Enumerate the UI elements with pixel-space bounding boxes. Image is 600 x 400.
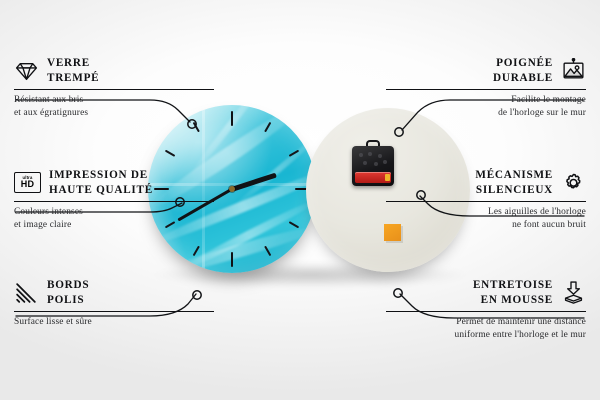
feature-bords-polis[interactable]: BORDS POLIS Surface lisse et sûre: [14, 278, 214, 329]
polished-edges-icon: [14, 280, 39, 305]
ultra-hd-icon: ultra HD: [14, 172, 41, 193]
feature-poignee-durable[interactable]: POIGNÉE DURABLE Facilite le montage de l…: [386, 56, 586, 120]
feature-impression-haute-qualite[interactable]: ultra HD IMPRESSION DE HAUTE QUALITÉ Cou…: [14, 168, 214, 232]
feature-divider: [14, 89, 214, 91]
feature-divider: [14, 311, 214, 313]
wire-endpoint-verre: [188, 120, 196, 128]
feature-verre-trempe[interactable]: VERRE TREMPÉ Résistant aux bris et aux é…: [14, 56, 214, 120]
feature-header: ultra HD IMPRESSION DE HAUTE QUALITÉ: [14, 168, 214, 198]
feature-title-line1: BORDS: [47, 278, 89, 293]
picture-hanger-icon: [561, 58, 586, 83]
feature-description: Surface lisse et sûre: [14, 316, 214, 329]
feature-divider: [14, 201, 214, 203]
feature-title: VERRE TREMPÉ: [47, 56, 99, 86]
feature-description: Couleurs intenses et image claire: [14, 206, 214, 232]
feature-title-line1: POIGNÉE: [493, 56, 553, 71]
feature-description: Les aiguilles de l'horloge ne font aucun…: [386, 206, 586, 232]
feature-title-line1: MÉCANISME: [475, 168, 553, 183]
feature-divider: [386, 311, 586, 313]
feature-title-line1: ENTRETOISE: [473, 278, 553, 293]
feature-title-line2: EN MOUSSE: [473, 293, 553, 308]
feature-title: IMPRESSION DE HAUTE QUALITÉ: [49, 168, 153, 198]
feature-description: Résistant aux bris et aux égratignures: [14, 94, 214, 120]
ultra-hd-icon-main-text: HD: [21, 180, 35, 189]
feature-title-line2: HAUTE QUALITÉ: [49, 183, 153, 198]
feature-title-line1: VERRE: [47, 56, 99, 71]
feature-title: ENTRETOISE EN MOUSSE: [473, 278, 553, 308]
feature-title-line2: TREMPÉ: [47, 71, 99, 86]
feature-header: MÉCANISME SILENCIEUX: [386, 168, 586, 198]
feature-title-line2: POLIS: [47, 293, 89, 308]
feature-title-line2: SILENCIEUX: [475, 183, 553, 198]
feature-title: BORDS POLIS: [47, 278, 89, 308]
feature-title-line2: DURABLE: [493, 71, 553, 86]
feature-title-line1: IMPRESSION DE: [49, 168, 153, 183]
diamond-icon: [14, 58, 39, 83]
foam-spacer-icon: [561, 280, 586, 305]
feature-title: MÉCANISME SILENCIEUX: [475, 168, 553, 198]
feature-header: BORDS POLIS: [14, 278, 214, 308]
gear-icon: [561, 170, 586, 195]
feature-divider: [386, 201, 586, 203]
feature-entretoise-en-mousse[interactable]: ENTRETOISE EN MOUSSE Permet de maintenir…: [386, 278, 586, 342]
feature-description: Permet de maintenir une distance uniform…: [386, 316, 586, 342]
feature-header: ENTRETOISE EN MOUSSE: [386, 278, 586, 308]
feature-divider: [386, 89, 586, 91]
feature-header: POIGNÉE DURABLE: [386, 56, 586, 86]
wire-endpoint-poignee: [395, 128, 403, 136]
infographic-stage: VERRE TREMPÉ Résistant aux bris et aux é…: [0, 0, 600, 400]
feature-description: Facilite le montage de l'horloge sur le …: [386, 94, 586, 120]
feature-header: VERRE TREMPÉ: [14, 56, 214, 86]
feature-title: POIGNÉE DURABLE: [493, 56, 553, 86]
feature-mecanisme-silencieux[interactable]: MÉCANISME SILENCIEUX Les aiguilles de l'…: [386, 168, 586, 232]
